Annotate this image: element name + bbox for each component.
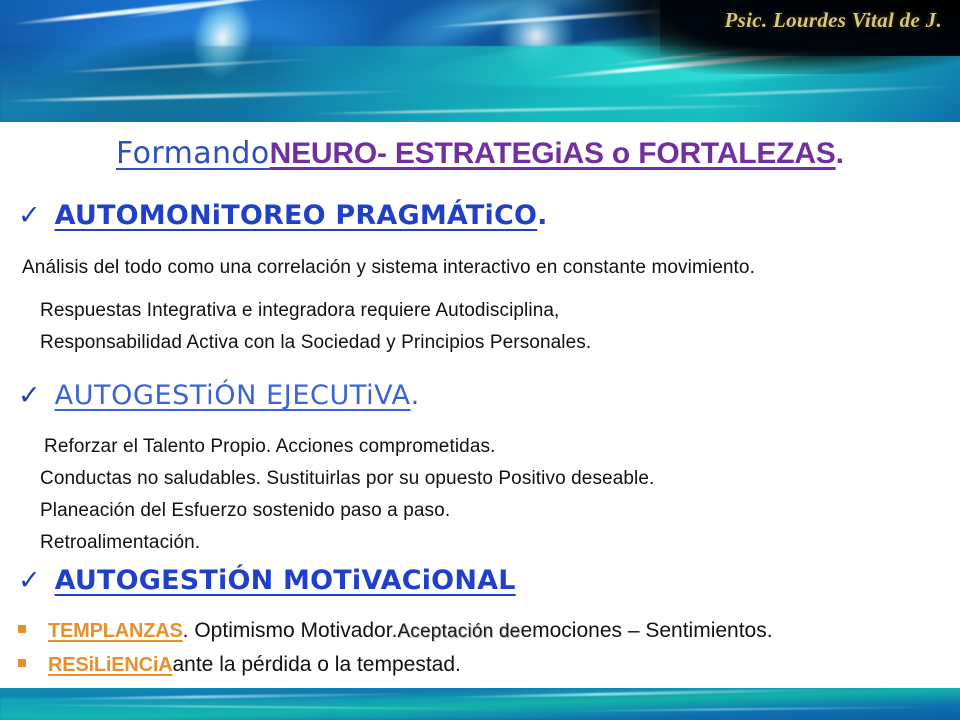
- title-period: .: [836, 137, 844, 170]
- section-heading-label: AUTOMONiTOREO PRAGMÁTiCO: [55, 200, 538, 231]
- body-line: Respuestas Integrativa e integradora req…: [40, 300, 559, 322]
- header-banner-image: Psic. Lourdes Vital de J.: [0, 0, 960, 122]
- page-title: FormandoNEURO- ESTRATEGiAS o FORTALEZAS.: [0, 136, 960, 171]
- list-item-text-a: ante la pérdida o la tempestad.: [172, 653, 460, 677]
- slide-content: FormandoNEURO- ESTRATEGiAS o FORTALEZAS.…: [0, 122, 960, 688]
- footer-banner-image: [0, 688, 960, 720]
- emphasis-aceptacion-de: Aceptación de: [397, 621, 520, 643]
- author-signature: Psic. Lourdes Vital de J.: [725, 8, 943, 33]
- section-heading-label: AUTOGESTiÓN MOTiVACiONAL: [55, 565, 516, 596]
- title-bold-words: NEURO- ESTRATEGiAS o FORTALEZAS: [270, 137, 836, 170]
- list-item: RESiLiENCiA ante la pérdida o la tempest…: [18, 653, 461, 677]
- section-heading-period: .: [411, 380, 420, 411]
- section-heading-autogestion-ejecutiva: ✓ AUTOGESTiÓN EJECUTiVA.: [18, 380, 419, 411]
- section-heading-automonitoreo: ✓ AUTOMONiTOREO PRAGMÁTiCO.: [18, 200, 548, 231]
- slide: Psic. Lourdes Vital de J. FormandoNEURO-…: [0, 0, 960, 720]
- body-line: Responsabilidad Activa con la Sociedad y…: [40, 332, 591, 354]
- checkmark-icon: ✓: [18, 202, 41, 229]
- checkmark-icon: ✓: [18, 567, 41, 594]
- checkmark-icon: ✓: [18, 382, 41, 409]
- keyword-templanzas: TEMPLANZAS: [48, 620, 183, 643]
- list-item: TEMPLANZAS . Optimismo Motivador. Acepta…: [18, 619, 773, 643]
- list-item-text-a: . Optimismo Motivador.: [183, 619, 398, 643]
- keyword-resiliencia: RESiLiENCiA: [48, 654, 172, 677]
- section-heading-period: .: [537, 200, 547, 231]
- body-line: Retroalimentación.: [40, 532, 200, 554]
- list-item-text-b: emociones – Sentimientos.: [520, 619, 772, 643]
- body-line: Conductas no saludables. Sustituirlas po…: [40, 468, 654, 490]
- body-line: Reforzar el Talento Propio. Acciones com…: [44, 436, 495, 458]
- section-heading-label: AUTOGESTiÓN EJECUTiVA: [55, 380, 411, 411]
- square-bullet-icon: [18, 625, 26, 633]
- body-line: Análisis del todo como una correlación y…: [22, 257, 755, 279]
- section-heading-autogestion-motivacional: ✓ AUTOGESTiÓN MOTiVACiONAL: [18, 565, 516, 596]
- square-bullet-icon: [18, 659, 26, 667]
- body-line: Planeación del Esfuerzo sostenido paso a…: [40, 500, 450, 522]
- title-script-word: Formando: [116, 136, 270, 171]
